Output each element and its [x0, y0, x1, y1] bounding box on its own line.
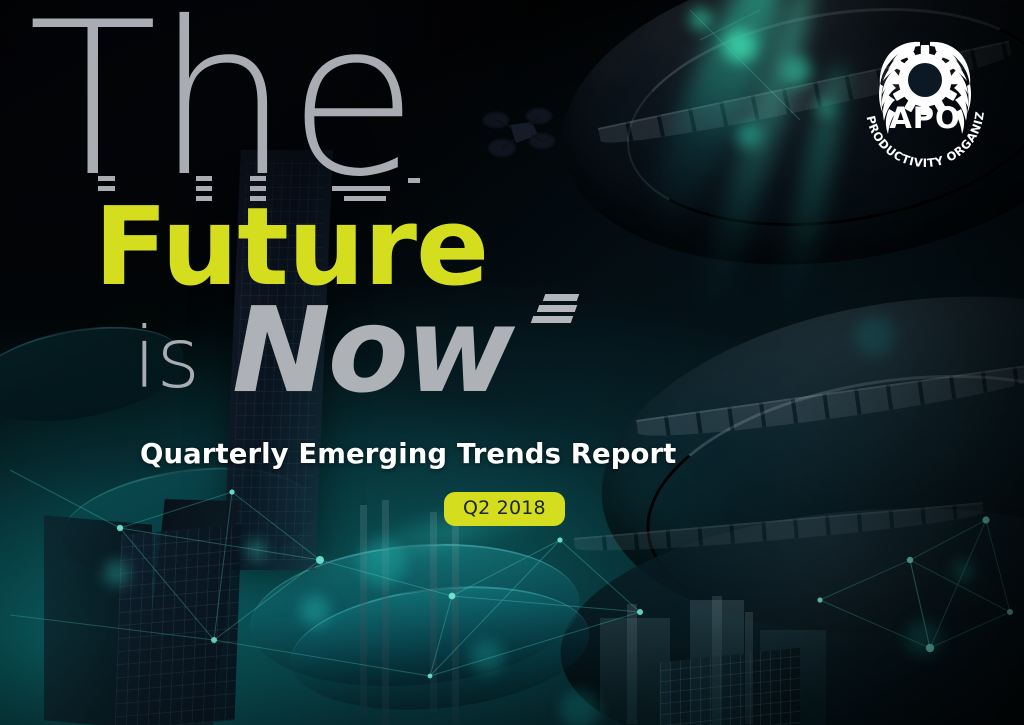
drone-icon	[482, 103, 556, 161]
report-cover: The Future is Now Quarterly Emerging Tre…	[0, 0, 1024, 725]
headline-line-now: Now	[232, 291, 512, 409]
headline-line-is: is	[133, 316, 200, 400]
headline-line-the: The	[28, 0, 416, 206]
quarter-badge: Q2 2018	[444, 492, 565, 526]
apo-logo: APO ASIAN PRODUCTIVITY ORGANIZATION	[850, 22, 1000, 174]
logo-acronym: APO	[889, 101, 960, 135]
report-subtitle: Quarterly Emerging Trends Report	[140, 438, 676, 470]
